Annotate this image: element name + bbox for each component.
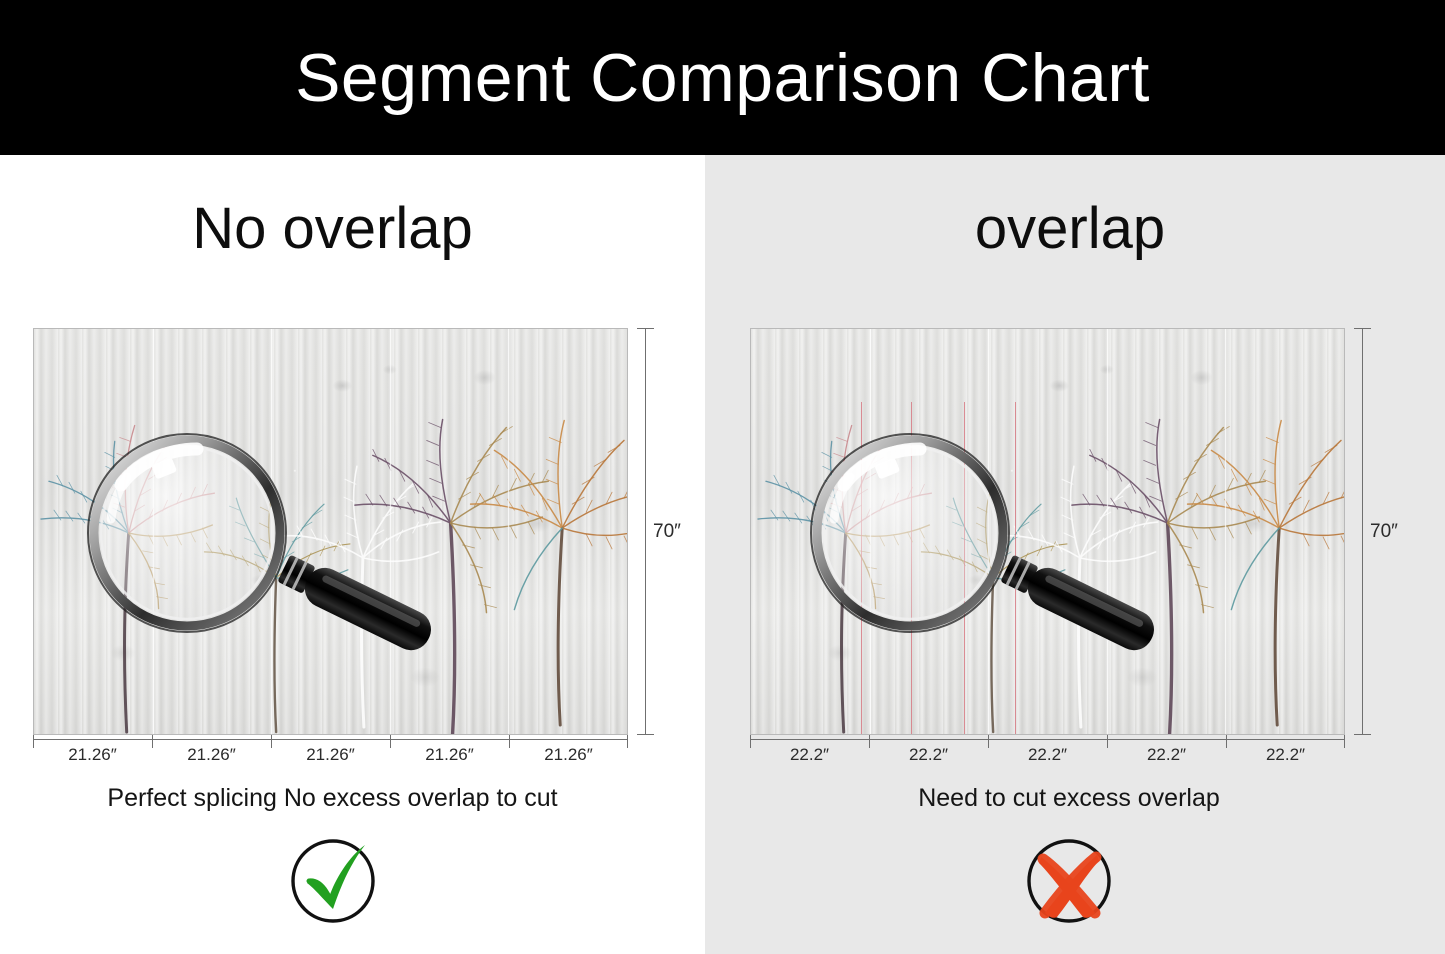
segment-width-label: 22.2″ — [1226, 745, 1345, 765]
height-ruler-no-overlap: 70″ — [629, 328, 675, 735]
page-title: Segment Comparison Chart — [295, 44, 1150, 112]
segment-width-label: 22.2″ — [750, 745, 869, 765]
segment-width-label: 22.2″ — [988, 745, 1107, 765]
height-ruler-overlap: 70″ — [1346, 328, 1392, 735]
panel-heading-overlap: overlap — [705, 200, 1445, 258]
verdict-overlap — [705, 833, 1445, 929]
segment-width-label: 21.26″ — [33, 745, 152, 765]
palm-tree-illustration — [34, 329, 627, 734]
verdict-no-overlap — [0, 833, 705, 929]
figure-overlap — [750, 328, 1345, 735]
height-label: 70″ — [653, 521, 681, 543]
segment-width-label: 21.26″ — [271, 745, 390, 765]
segment-width-label: 21.26″ — [152, 745, 271, 765]
palm-tree-illustration — [751, 329, 1344, 734]
segment-width-label: 22.2″ — [869, 745, 988, 765]
figure-no-overlap — [33, 328, 628, 735]
height-label: 70″ — [1370, 521, 1398, 543]
red-cross-icon — [1021, 833, 1117, 929]
caption-overlap: Need to cut excess overlap — [705, 783, 1445, 813]
segment-ruler-no-overlap: 21.26″ 21.26″ 21.26″ 21.26″ 21.26″ — [33, 739, 628, 773]
segment-width-label: 21.26″ — [390, 745, 509, 765]
wallpaper-artwork-overlap — [750, 328, 1345, 735]
title-banner: Segment Comparison Chart — [0, 0, 1445, 155]
segment-ruler-overlap: 22.2″ 22.2″ 22.2″ 22.2″ 22.2″ — [750, 739, 1345, 773]
green-check-icon — [285, 833, 381, 929]
segment-width-label: 22.2″ — [1107, 745, 1226, 765]
panel-overlap: overlap — [705, 155, 1445, 954]
panel-no-overlap: No overlap — [0, 155, 705, 954]
caption-no-overlap: Perfect splicing No excess overlap to cu… — [0, 783, 705, 813]
wallpaper-artwork-no-overlap — [33, 328, 628, 735]
screenshot-root: Segment Comparison Chart No overlap — [0, 0, 1445, 954]
segment-width-label: 21.26″ — [509, 745, 628, 765]
panel-heading-no-overlap: No overlap — [0, 200, 705, 258]
